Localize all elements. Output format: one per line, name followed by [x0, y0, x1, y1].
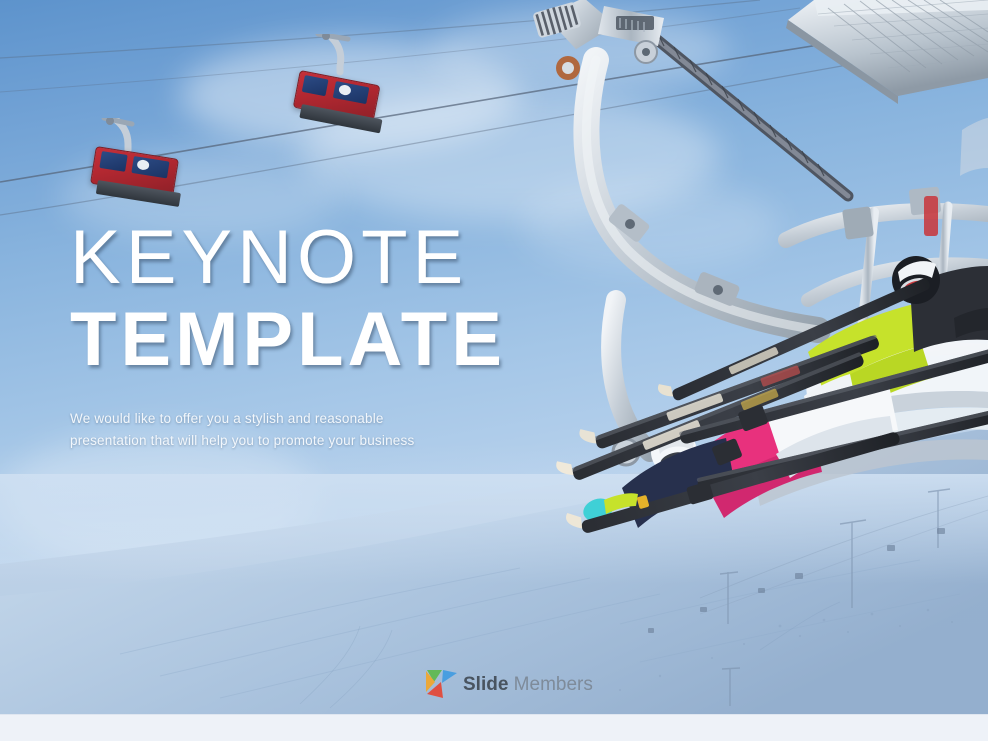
page-title-line2: TEMPLATE — [70, 301, 550, 379]
slide-canvas: KEYNOTE TEMPLATE We would like to offer … — [0, 0, 988, 714]
logo-wordmark: Slide Members — [463, 675, 593, 694]
gondola-cabin-left — [88, 118, 196, 200]
title-block: KEYNOTE TEMPLATE We would like to offer … — [70, 222, 550, 452]
page-bottom-strip — [0, 714, 988, 741]
metal-grate-platform — [786, 0, 988, 104]
gondola-cabin-right — [288, 34, 398, 124]
slide-members-logo[interactable]: Slide Members — [424, 668, 593, 700]
haul-rope — [638, 24, 848, 196]
page-title-line1: KEYNOTE — [70, 222, 550, 295]
logo-word-members: Members — [508, 674, 592, 695]
pinwheel-logo-icon — [424, 668, 458, 700]
logo-word-slide: Slide — [463, 674, 508, 695]
chair-hanger-arm — [586, 60, 818, 330]
skier-third-partial — [960, 118, 988, 176]
chairlift-with-skiers — [518, 0, 988, 714]
subtitle-text: We would like to offer you a stylish and… — [70, 408, 430, 452]
slide-page: KEYNOTE TEMPLATE We would like to offer … — [0, 0, 988, 741]
